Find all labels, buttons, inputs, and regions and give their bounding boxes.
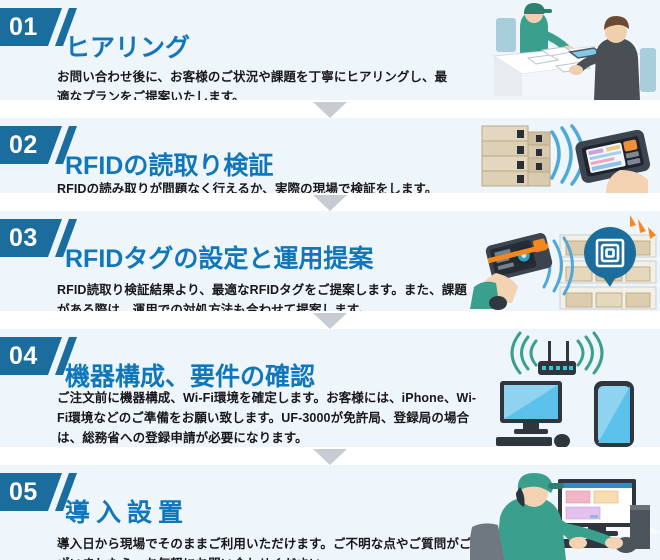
engineer-at-pc-installation-illustration xyxy=(470,465,660,560)
process-step-05: 05 導入設置 導入日から現場でそのままご利用いただけます。ご不明な点やご質問が… xyxy=(0,465,660,560)
step-number-badge-02: 02 xyxy=(0,126,62,164)
step-title-03: RFIDタグの設定と運用提案 xyxy=(65,242,373,276)
step-number-01: 01 xyxy=(0,15,38,40)
step-title-01: ヒアリング xyxy=(65,31,190,65)
step-body-05: 導入日から現場でそのままご利用いただけます。ご不明な点やご質問がございましたら、… xyxy=(57,534,477,560)
process-step-02: 02 RFIDの読取り検証 RFIDの読み取りが問題なく行えるか、実際の現場で検… xyxy=(0,118,660,193)
step-title-05: 導入設置 xyxy=(65,496,189,530)
down-arrow-2 xyxy=(313,195,347,211)
router-pc-smartphone-illustration xyxy=(490,329,660,447)
down-arrow-3 xyxy=(313,313,347,329)
step-number-badge-03: 03 xyxy=(0,219,62,257)
step-number-02: 02 xyxy=(0,133,38,158)
step-number-badge-04: 04 xyxy=(0,337,62,375)
process-step-01: 01 ヒアリング お問い合わせ後に、お客様のご状況や課題を丁寧にヒアリングし、最… xyxy=(0,0,660,100)
process-step-04: 04 機器構成、要件の確認 ご注文前に機器構成、Wi-Fi環境を確定します。お客… xyxy=(0,329,660,447)
step-number-badge-05: 05 xyxy=(0,473,62,511)
step-body-03: RFID読取り検証結果より、最適なRFIDタグをご提案します。また、課題がある際… xyxy=(57,280,477,312)
step-body-04: ご注文前に機器構成、Wi-Fi環境を確定します。お客様には、iPhone、Wi-… xyxy=(57,388,487,448)
process-step-03: 03 RFIDタグの設定と運用提案 RFID読取り検証結果より、最適なRFIDタ… xyxy=(0,211,660,311)
down-arrow-1 xyxy=(313,102,347,118)
rfid-reader-tag-shelf-illustration xyxy=(470,211,660,311)
step-number-05: 05 xyxy=(0,480,38,505)
down-arrow-4 xyxy=(313,449,347,465)
meeting-consultation-illustration xyxy=(470,0,660,100)
step-body-01: お問い合わせ後に、お客様のご状況や課題を丁寧にヒアリングし、最適なプランをご提案… xyxy=(57,67,457,101)
step-body-02: RFIDの読み取りが問題なく行えるか、実際の現場で検証をします。 xyxy=(57,179,477,194)
process-flow-diagram: 01 ヒアリング お問い合わせ後に、お客様のご状況や課題を丁寧にヒアリングし、最… xyxy=(0,0,660,560)
rfid-handheld-reading-boxes-illustration xyxy=(460,118,660,193)
step-number-04: 04 xyxy=(0,344,38,369)
step-number-03: 03 xyxy=(0,226,38,251)
step-number-badge-01: 01 xyxy=(0,8,62,46)
